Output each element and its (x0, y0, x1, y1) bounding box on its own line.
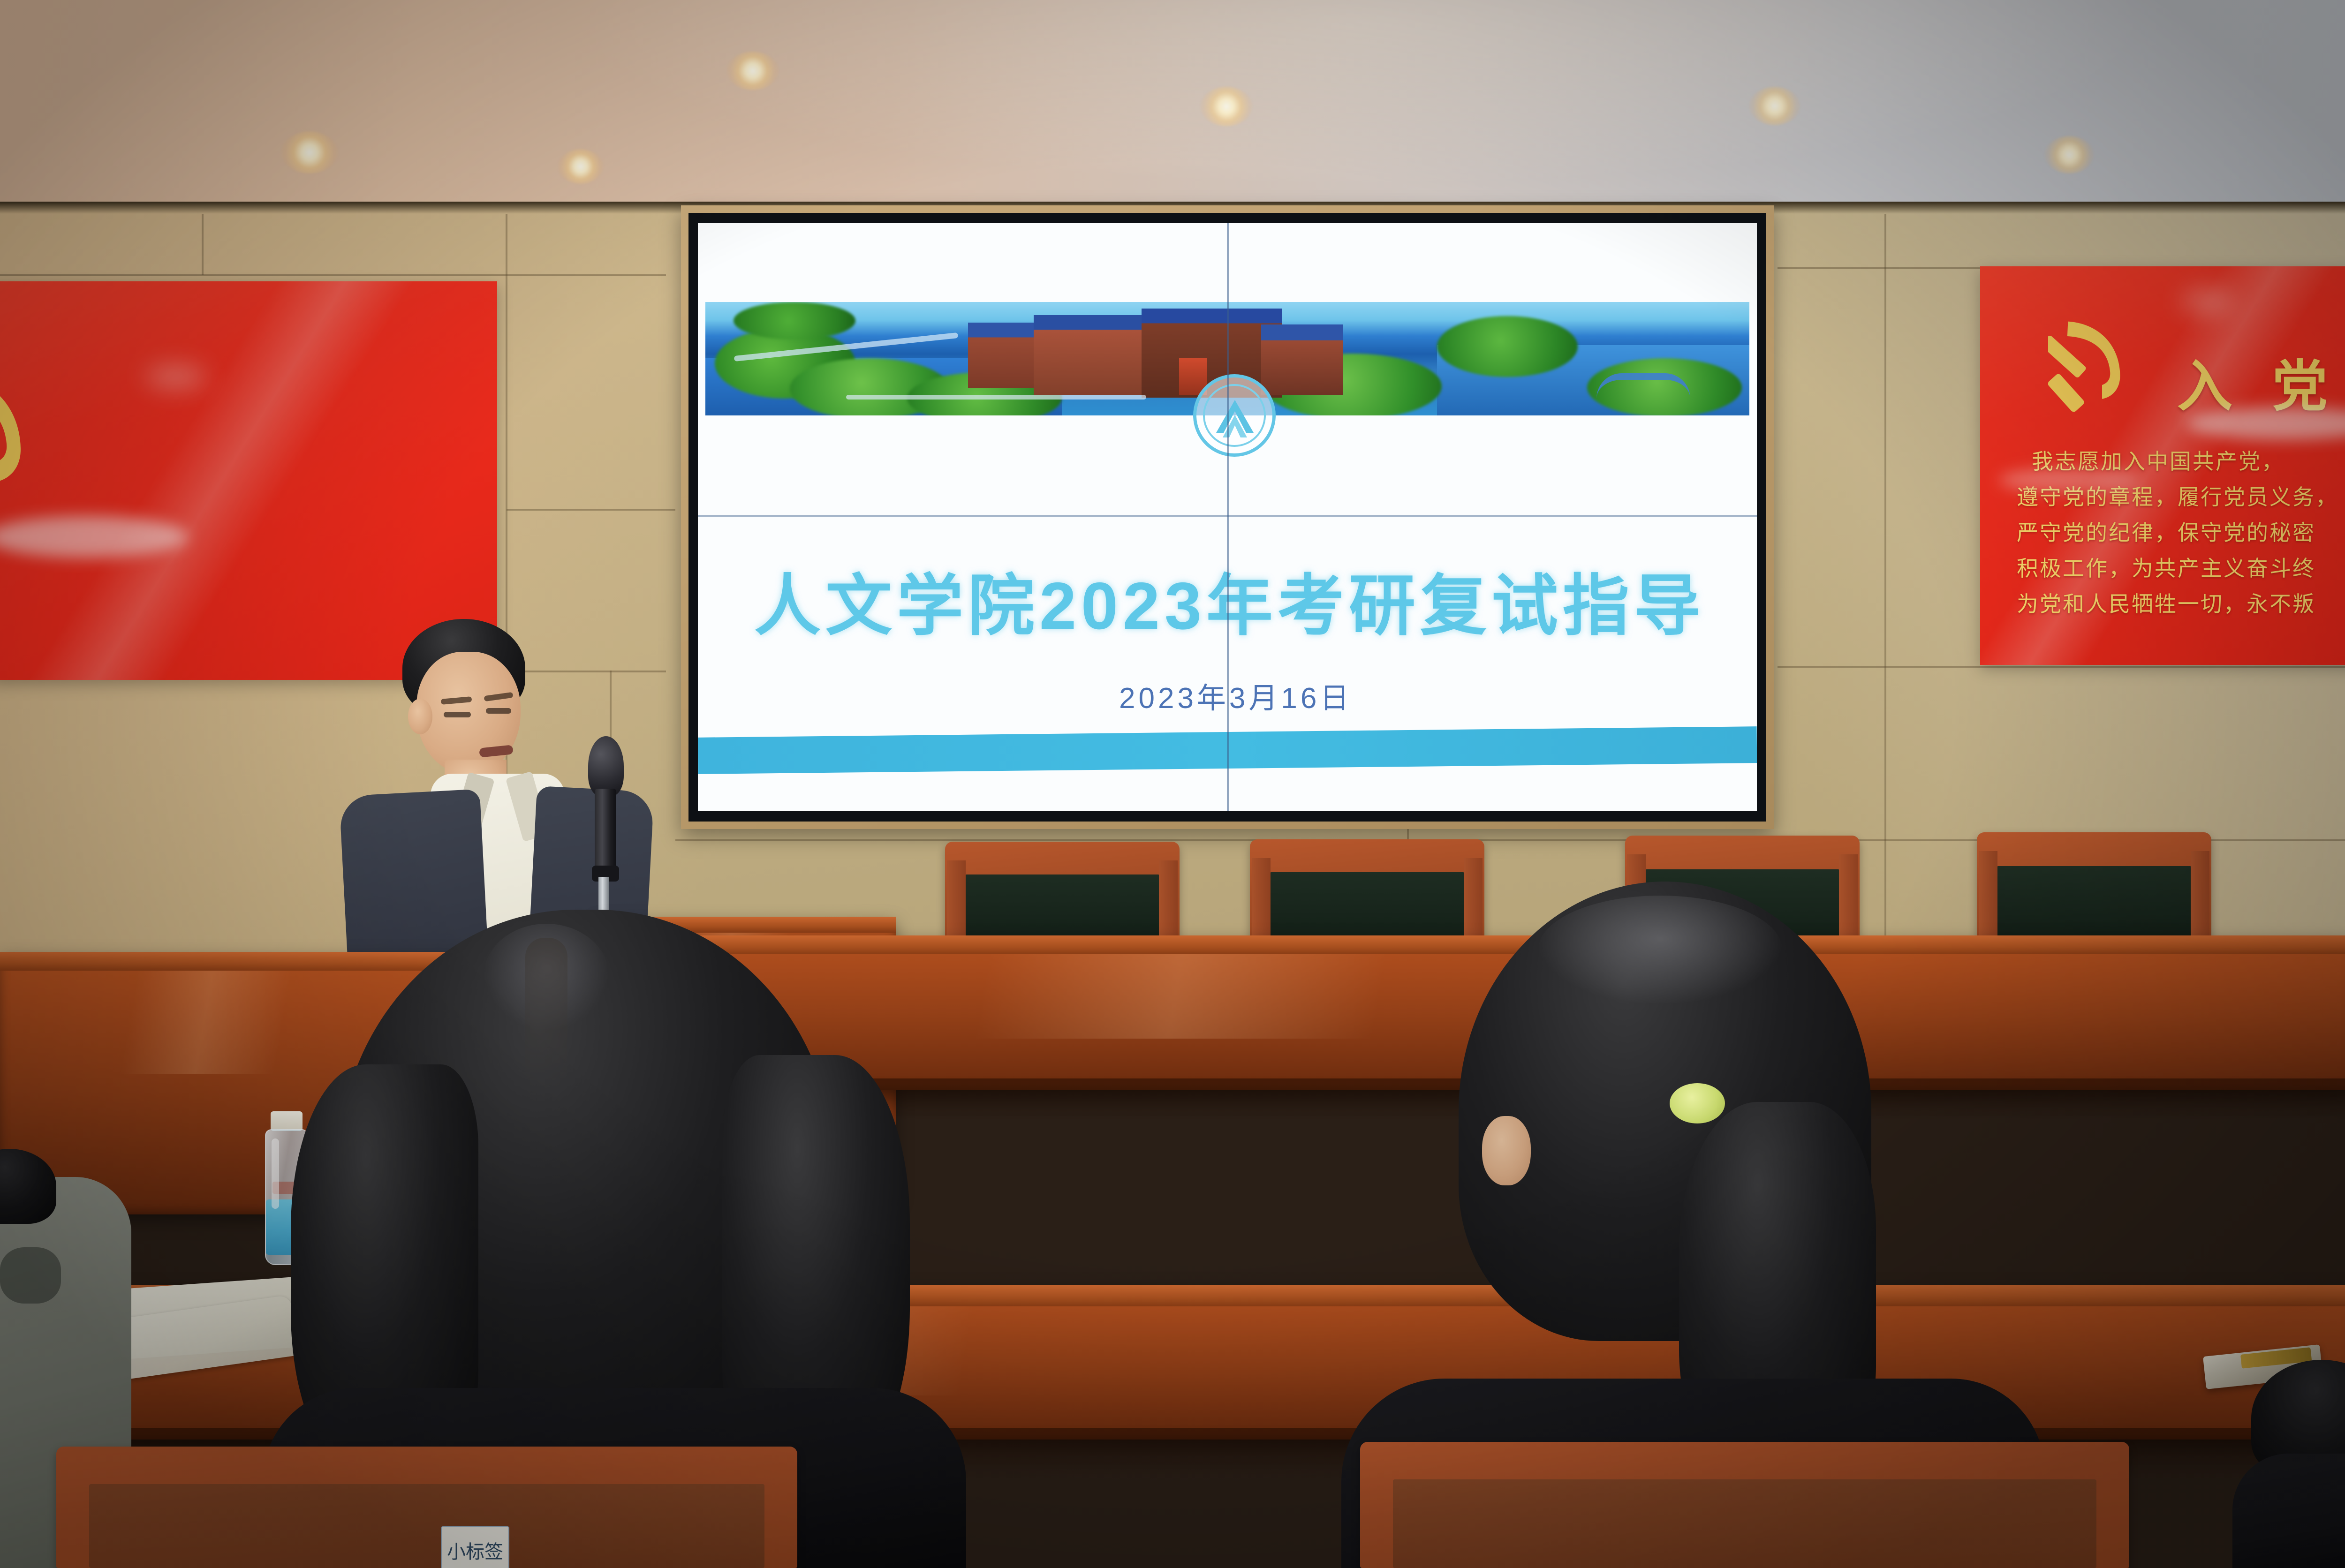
audience-member-far-right (2232, 1360, 2345, 1568)
wall-seam (1778, 666, 2345, 668)
university-logo-icon (1193, 374, 1276, 457)
ceiling-light-wash (0, 0, 2345, 220)
hammer-sickle-icon (0, 356, 70, 511)
presenter-ear (408, 699, 432, 734)
banner-glare (1999, 468, 2140, 492)
wall-seam (0, 274, 666, 276)
oath-line-3: 严守党的纪律，保守党的秘密 (2017, 516, 2315, 547)
chair[interactable]: 小标签 (56, 1447, 797, 1568)
presentation-screen: 人文学院2023年考研复试指导 2023年3月16日 (698, 223, 1757, 811)
oath-line-4: 积极工作，为共产主义奋斗终 (2017, 551, 2315, 582)
chair[interactable] (1360, 1442, 2129, 1568)
video-wall-seam (698, 515, 1757, 517)
slide-title: 人文学院2023年考研复试指导 (754, 551, 1705, 648)
hammer-sickle-icon (2048, 309, 2156, 420)
right-red-banner: 入 党 誓 我志愿加入中国共产党， 遵守党的章程，履行党员义务， 严守党的纪律，… (1980, 266, 2345, 665)
chair-tag: 小标签 (441, 1526, 509, 1568)
ceiling-spotlight-icon (558, 149, 603, 184)
ceiling-spotlight-icon (727, 52, 779, 90)
wall-seam (202, 214, 204, 275)
ceiling-spotlight-icon (1749, 87, 1800, 125)
slide-date: 2023年3月16日 (1119, 674, 1352, 716)
video-wall-seam (1227, 223, 1229, 811)
microphone-head-icon (588, 736, 624, 796)
ceiling-spotlight-icon (281, 131, 338, 173)
hair-tie (1670, 1083, 1725, 1123)
microphone (582, 736, 624, 924)
banner-glare (2182, 290, 2233, 313)
wall-seam (1884, 214, 1886, 959)
oath-line-5: 为党和人民牺牲一切，永不叛 (2017, 587, 2315, 618)
banner-glare (145, 366, 206, 388)
wall-seam (507, 509, 675, 511)
ceiling-spotlight-icon (2045, 136, 2094, 173)
lecture-room-photo: 入 党 誓 我志愿加入中国共产党， 遵守党的章程，履行党员义务， 严守党的纪律，… (0, 0, 2345, 1568)
ceiling-spotlight-icon (1201, 87, 1252, 126)
screen-frame: 人文学院2023年考研复试指导 2023年3月16日 (681, 205, 1774, 829)
